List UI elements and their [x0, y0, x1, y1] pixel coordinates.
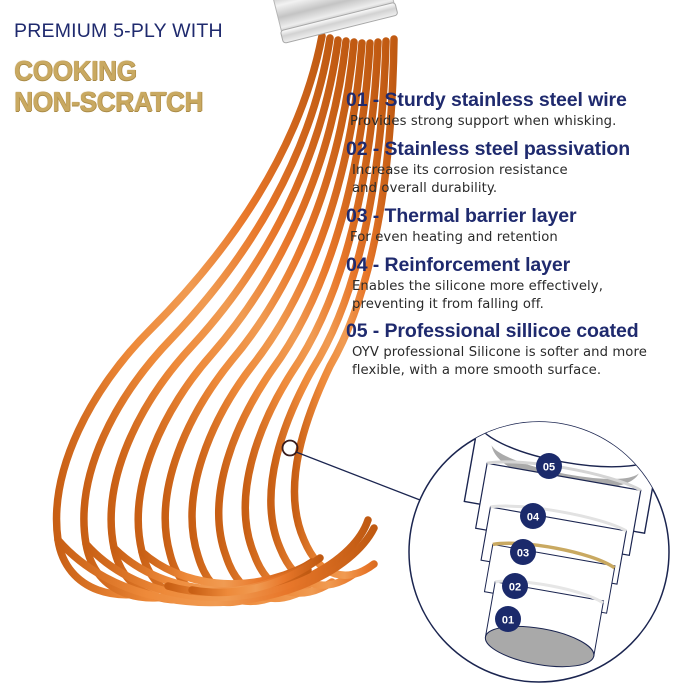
feature-item-05: 05 - Professional sillicoe coated OYV pr… — [346, 319, 679, 380]
feature-desc-05-line-1: OYV professional Silicone is softer and … — [352, 344, 679, 362]
infographic-canvas: 05 04 03 02 01 PREMIUM 5-PLY WITH COOKIN… — [0, 0, 679, 686]
headline-premium-line: PREMIUM 5-PLY WITH — [14, 22, 344, 42]
feature-desc-01: Provides strong support when whisking. — [346, 113, 679, 131]
feature-list: 01 - Sturdy stainless steel wire Provide… — [346, 88, 679, 381]
layer-badge-02-label: 02 — [509, 582, 521, 594]
layer-badge-01-label: 01 — [502, 615, 514, 627]
magnifier-detail-view — [409, 395, 669, 682]
layer-badge-04-label: 04 — [527, 512, 540, 524]
layer-badge-01: 01 — [495, 606, 521, 632]
feature-desc-03-line-1: For even heating and retention — [350, 229, 679, 247]
feature-item-01: 01 - Sturdy stainless steel wire Provide… — [346, 88, 679, 131]
feature-title-05: 05 - Professional sillicoe coated — [346, 319, 679, 344]
feature-desc-04-line-2: preventing it from falling off. — [352, 296, 679, 314]
layer-badge-05-label: 05 — [543, 462, 555, 474]
feature-title-04: 04 - Reinforcement layer — [346, 253, 679, 278]
feature-desc-04-line-1: Enables the silicone more effectively, — [352, 278, 679, 296]
feature-item-02: 02 - Stainless steel passivation Increas… — [346, 137, 679, 198]
whisk-wires — [57, 36, 394, 602]
headline-cooking: COOKING — [14, 56, 321, 86]
layer-badge-03: 03 — [510, 539, 536, 565]
feature-item-03: 03 - Thermal barrier layer For even heat… — [346, 204, 679, 247]
feature-desc-03: For even heating and retention — [346, 229, 679, 247]
headline-block: PREMIUM 5-PLY WITH COOKING NON-SCRATCH — [14, 22, 344, 117]
feature-desc-02: Increase its corrosion resistance and ov… — [346, 162, 679, 198]
callout-leader-line — [296, 452, 420, 500]
headline-non-scratch: NON-SCRATCH — [14, 87, 321, 117]
feature-desc-05-line-2: flexible, with a more smooth surface. — [352, 362, 679, 380]
feature-title-02: 02 - Stainless steel passivation — [346, 137, 679, 162]
layer-badge-03-label: 03 — [517, 548, 529, 560]
feature-desc-04: Enables the silicone more effectively, p… — [346, 278, 679, 314]
feature-title-03: 03 - Thermal barrier layer — [346, 204, 679, 229]
feature-desc-05: OYV professional Silicone is softer and … — [346, 344, 679, 380]
layer-badge-04: 04 — [520, 503, 546, 529]
callout-marker-icon — [283, 441, 298, 456]
layer-badge-05: 05 — [536, 453, 562, 479]
feature-desc-02-line-2: and overall durability. — [352, 180, 679, 198]
layer-badge-02: 02 — [502, 573, 528, 599]
feature-item-04: 04 - Reinforcement layer Enables the sil… — [346, 253, 679, 314]
feature-title-01: 01 - Sturdy stainless steel wire — [346, 88, 679, 113]
feature-desc-01-line-1: Provides strong support when whisking. — [350, 113, 679, 131]
feature-desc-02-line-1: Increase its corrosion resistance — [352, 162, 679, 180]
